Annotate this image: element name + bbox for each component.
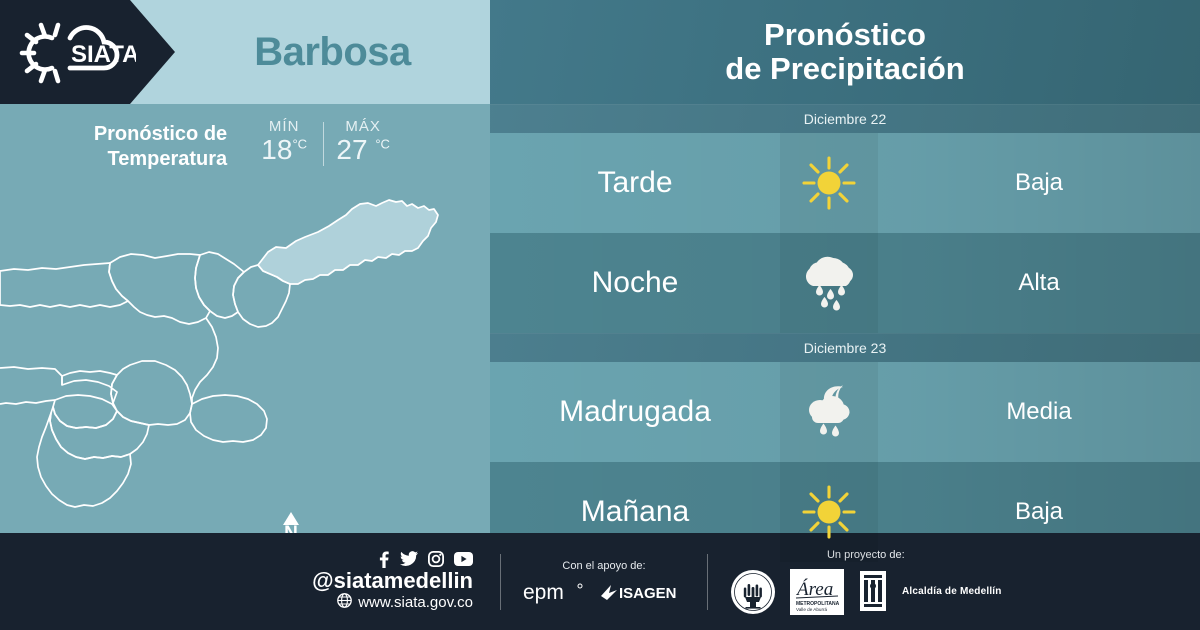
footer-support-block: Con el apoyo de: epm ISAGEN (501, 560, 707, 604)
forecast-row[interactable]: Noche Alta (490, 233, 1200, 333)
social-handle[interactable]: @siatamedellin (312, 569, 473, 593)
left-panel: SIATA Barbosa Pronóstico de Temperatura … (0, 0, 490, 533)
precipitation-title-line2: de Precipitación (725, 52, 964, 86)
left-header: SIATA Barbosa (0, 0, 490, 104)
moon-rain-cloud-icon (780, 362, 878, 462)
precipitation-panel: Pronóstico de Precipitación Diciembre 22… (490, 0, 1200, 533)
temperature-block: Pronóstico de Temperatura MÍN 18°C MÁX 2… (0, 112, 490, 184)
map-boundary-extra-left2 (0, 400, 55, 404)
temperature-max: MÁX 27 °C (324, 118, 402, 166)
temperature-min-number: 18 (261, 134, 292, 165)
footer-social-block: @siatamedellin www.siata.gov.co (0, 551, 500, 613)
map-region-itagui (62, 371, 117, 403)
precipitation-title-line1: Pronóstico (764, 18, 926, 52)
precipitation-level: Baja (878, 462, 1200, 562)
youtube-icon[interactable] (454, 552, 473, 566)
map-region-bello (109, 254, 210, 324)
support-logos: epm ISAGEN (523, 580, 685, 604)
temperature-title-line1: Pronóstico de (94, 123, 227, 145)
sun-icon (780, 133, 878, 233)
alcaldia-medellin-label: Alcaldía de Medellín (902, 586, 1002, 597)
forecast-period-label: Tarde (490, 133, 780, 233)
temperature-title-line2: Temperatura (108, 148, 228, 170)
temperature-title: Pronóstico de Temperatura (94, 112, 227, 172)
siata-logo-text: SIATA (71, 41, 136, 68)
map-region-copacabana (195, 252, 244, 318)
temperature-min-label: MÍN (245, 118, 323, 135)
temperature-max-number: 27 (336, 134, 367, 165)
temperature-max-label: MÁX (324, 118, 402, 135)
page-title: Barbosa (175, 0, 490, 104)
epm-logo: epm (523, 580, 585, 604)
sun-icon (780, 462, 878, 562)
infographic-root: SIATA Barbosa Pronóstico de Temperatura … (0, 0, 1200, 630)
map-boundary-extra-left (0, 367, 62, 385)
temperature-min-unit: °C (292, 137, 307, 152)
forecast-row[interactable]: Tarde Baja (490, 133, 1200, 233)
temperature-max-value: 27 °C (324, 134, 402, 166)
website-url: www.siata.gov.co (358, 594, 473, 612)
precipitation-level: Media (878, 362, 1200, 462)
map-region-spine (192, 318, 218, 404)
temperature-values: MÍN 18°C MÁX 27 °C (245, 112, 402, 166)
twitter-icon[interactable] (400, 551, 418, 567)
alcaldia-medellin-logo (858, 569, 888, 615)
date-header-day1: Diciembre 22 (490, 104, 1200, 133)
precipitation-level: Baja (878, 133, 1200, 233)
svg-text:epm: epm (523, 581, 564, 604)
precipitation-level: Alta (878, 233, 1200, 333)
svg-text:Valle de Aburrá: Valle de Aburrá (796, 607, 828, 612)
forecast-period-label: Noche (490, 233, 780, 333)
svg-text:ISAGEN: ISAGEN (619, 585, 677, 602)
forecast-period-label: Mañana (490, 462, 780, 562)
facebook-icon[interactable] (377, 551, 390, 568)
project-logos: Área METROPOLITANA Valle de Aburrá (730, 569, 1002, 615)
precipitation-title: Pronóstico de Precipitación (490, 0, 1200, 104)
map-region-envigado (190, 395, 267, 442)
map-region-barbosa (258, 200, 438, 284)
udea-seal-logo (730, 569, 776, 615)
siata-sun-cloud-logo[interactable]: SIATA (0, 0, 175, 104)
instagram-icon[interactable] (428, 551, 444, 567)
temperature-max-unit: °C (375, 137, 390, 152)
forecast-row[interactable]: Madrugada Media (490, 362, 1200, 462)
date-header-day2: Diciembre 23 (490, 333, 1200, 362)
temperature-min: MÍN 18°C (245, 118, 323, 166)
isagen-logo: ISAGEN (599, 582, 685, 602)
temperature-min-value: 18°C (245, 134, 323, 166)
social-icons (377, 551, 473, 568)
forecast-period-label: Madrugada (490, 362, 780, 462)
website-line[interactable]: www.siata.gov.co (337, 593, 473, 613)
map-region-west (0, 263, 128, 307)
forecast-row[interactable]: Mañana Baja (490, 462, 1200, 562)
map-region-medellin (111, 361, 192, 425)
rain-cloud-icon (780, 233, 878, 333)
aburra-valley-map[interactable]: N (0, 185, 490, 533)
globe-icon (337, 593, 352, 613)
area-metropolitana-logo: Área METROPOLITANA Valle de Aburrá (790, 569, 844, 615)
